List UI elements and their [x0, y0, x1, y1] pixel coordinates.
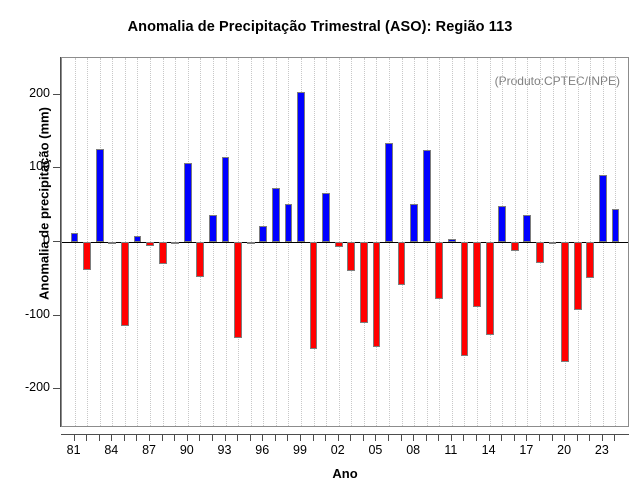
- x-tick: [401, 434, 402, 441]
- y-tick: [53, 241, 60, 242]
- bar-04: [360, 242, 368, 323]
- x-tick: [313, 434, 314, 441]
- x-tick: [388, 434, 389, 441]
- bar-20: [561, 242, 569, 362]
- y-axis-line: [60, 57, 61, 427]
- bar-98: [285, 204, 293, 242]
- bar-16: [511, 242, 519, 251]
- bar-11: [448, 239, 456, 242]
- bar-90: [184, 163, 192, 242]
- bar-95: [247, 242, 255, 244]
- bar-18: [536, 242, 544, 263]
- x-tick-label: 23: [587, 443, 617, 457]
- x-tick-label: 87: [134, 443, 164, 457]
- x-tick: [564, 434, 565, 441]
- x-tick: [74, 434, 75, 441]
- x-tick: [614, 434, 615, 441]
- bar-23: [599, 175, 607, 242]
- bar-09: [423, 150, 431, 242]
- x-tick: [501, 434, 502, 441]
- y-tick-label: -200: [0, 380, 50, 394]
- bar-92: [209, 215, 217, 242]
- bar-00: [310, 242, 318, 349]
- bar-94: [234, 242, 242, 338]
- x-tick-label: 90: [172, 443, 202, 457]
- x-tick-label: 96: [247, 443, 277, 457]
- bar-97: [272, 188, 280, 242]
- bar-83: [96, 149, 104, 242]
- x-tick: [489, 434, 490, 441]
- bar-22: [586, 242, 594, 278]
- x-tick: [413, 434, 414, 441]
- bar-19: [549, 242, 557, 244]
- x-tick: [438, 434, 439, 441]
- x-tick-label: 93: [210, 443, 240, 457]
- bar-12: [461, 242, 469, 356]
- bar-86: [134, 236, 142, 242]
- x-tick: [526, 434, 527, 441]
- x-tick-label: 81: [59, 443, 89, 457]
- bar-05: [373, 242, 381, 347]
- x-tick: [375, 434, 376, 441]
- bar-99: [297, 92, 305, 242]
- bar-10: [435, 242, 443, 299]
- x-tick: [187, 434, 188, 441]
- bar-14: [486, 242, 494, 335]
- bar-08: [410, 204, 418, 242]
- chart-title: Anomalia de Precipitação Trimestral (ASO…: [0, 19, 640, 35]
- bar-01: [322, 193, 330, 242]
- x-tick: [338, 434, 339, 441]
- source-annotation: (Produto:CPTEC/INPE): [495, 74, 620, 88]
- y-tick: [53, 94, 60, 95]
- bar-81: [71, 233, 79, 242]
- bar-84: [108, 242, 116, 244]
- x-tick: [212, 434, 213, 441]
- bar-88: [159, 242, 167, 264]
- x-tick: [250, 434, 251, 441]
- x-tick-label: 11: [436, 443, 466, 457]
- x-tick: [476, 434, 477, 441]
- x-tick: [225, 434, 226, 441]
- bar-15: [498, 206, 506, 242]
- x-tick: [451, 434, 452, 441]
- bar-13: [473, 242, 481, 307]
- x-tick: [514, 434, 515, 441]
- bar-93: [222, 157, 230, 242]
- bar-17: [523, 215, 531, 242]
- x-tick: [577, 434, 578, 441]
- x-tick: [325, 434, 326, 441]
- x-tick-label: 08: [398, 443, 428, 457]
- x-tick-label: 17: [511, 443, 541, 457]
- x-tick-label: 20: [549, 443, 579, 457]
- x-tick: [287, 434, 288, 441]
- x-tick: [350, 434, 351, 441]
- x-tick-label: 99: [285, 443, 315, 457]
- bar-85: [121, 242, 129, 326]
- x-tick: [174, 434, 175, 441]
- x-tick: [602, 434, 603, 441]
- x-tick: [426, 434, 427, 441]
- y-axis-title: Anomalia de precipitação (mm): [37, 74, 52, 334]
- y-tick: [53, 167, 60, 168]
- x-tick-label: 14: [474, 443, 504, 457]
- x-tick: [199, 434, 200, 441]
- bar-91: [196, 242, 204, 277]
- bar-03: [347, 242, 355, 271]
- bar-02: [335, 242, 343, 247]
- x-axis-line: [61, 434, 629, 435]
- bar-89: [171, 242, 179, 244]
- x-tick: [136, 434, 137, 441]
- chart-root: Anomalia de Precipitação Trimestral (ASO…: [0, 0, 640, 500]
- x-tick: [300, 434, 301, 441]
- x-tick: [589, 434, 590, 441]
- plot-area: (Produto:CPTEC/INPE): [61, 57, 629, 427]
- y-tick: [53, 315, 60, 316]
- bar-82: [83, 242, 91, 270]
- x-axis-title: Ano: [61, 466, 629, 481]
- x-tick-label: 84: [96, 443, 126, 457]
- bar-87: [146, 242, 154, 246]
- x-tick: [552, 434, 553, 441]
- x-tick: [237, 434, 238, 441]
- x-tick: [162, 434, 163, 441]
- x-tick: [275, 434, 276, 441]
- x-tick: [149, 434, 150, 441]
- bar-06: [385, 143, 393, 242]
- y-tick: [53, 388, 60, 389]
- x-tick: [463, 434, 464, 441]
- bar-96: [259, 226, 267, 242]
- x-tick-label: 02: [323, 443, 353, 457]
- x-tick: [262, 434, 263, 441]
- x-tick: [363, 434, 364, 441]
- x-tick: [86, 434, 87, 441]
- bar-24: [612, 209, 620, 242]
- x-tick: [539, 434, 540, 441]
- x-tick: [99, 434, 100, 441]
- x-tick: [111, 434, 112, 441]
- x-tick-label: 05: [360, 443, 390, 457]
- bar-07: [398, 242, 406, 285]
- x-tick: [124, 434, 125, 441]
- bar-21: [574, 242, 582, 310]
